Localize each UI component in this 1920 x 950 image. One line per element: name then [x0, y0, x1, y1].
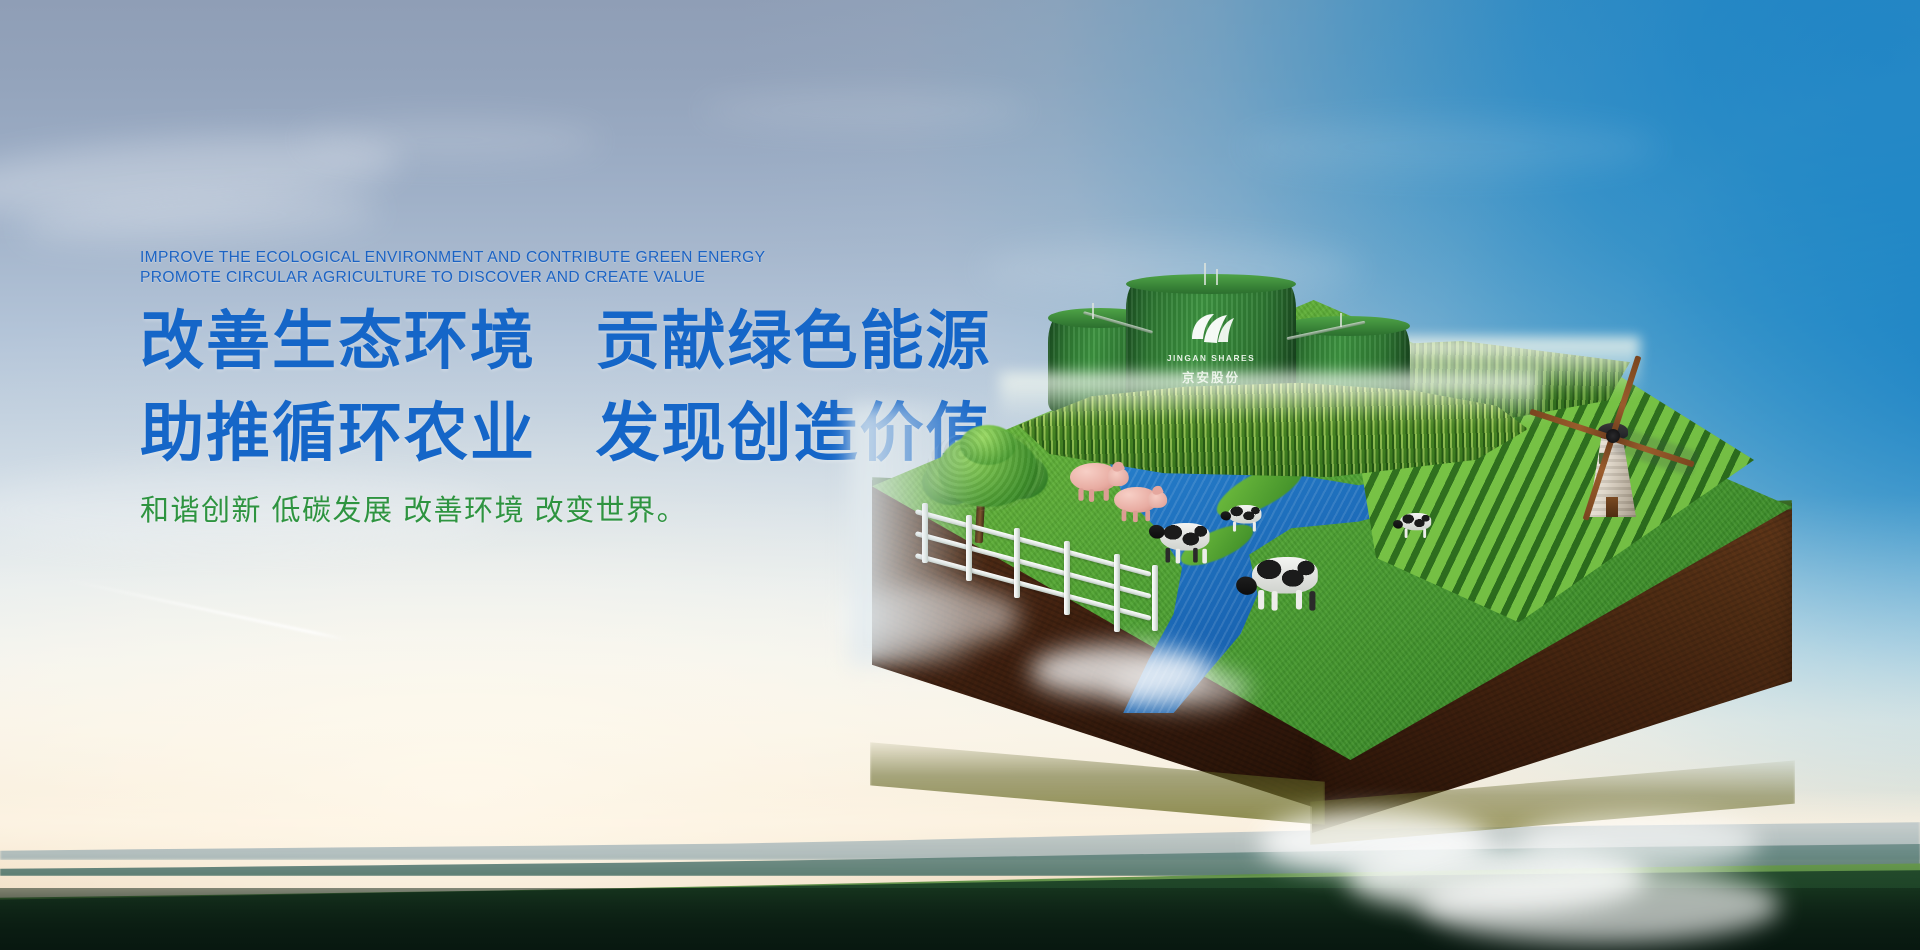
cow-leg — [1405, 529, 1408, 538]
cow-leg — [1193, 548, 1197, 563]
cow-head — [1221, 511, 1232, 520]
cow-head — [1393, 520, 1403, 529]
pig-leg — [1133, 511, 1138, 522]
headline-line-2: 助推循环农业 发现创造价值 — [140, 394, 960, 472]
reed-field-haze — [1000, 373, 1540, 421]
pig-leg — [1104, 488, 1109, 501]
tank-mast — [1092, 303, 1094, 319]
cow-leg — [1309, 591, 1314, 611]
fence-post — [1114, 554, 1120, 632]
cow-body — [1160, 523, 1210, 551]
fence-post — [922, 503, 928, 563]
pig-leg — [1122, 510, 1127, 521]
windmill-hub — [1606, 429, 1620, 443]
tank-mast — [1216, 269, 1218, 285]
white-paddock-fence — [916, 491, 1156, 623]
tank-brand-english: JINGAN SHARES — [1126, 353, 1296, 363]
cow-leg — [1258, 590, 1263, 610]
subtitle-slogan: 和谐创新 低碳发展 改善环境 改变世界。 — [140, 492, 960, 530]
floating-island-illustration: JINGAN SHARES 京安股份 — [860, 255, 1920, 895]
headline-line-1-part-a: 改善生态环境 — [140, 305, 536, 377]
tank-mast — [1204, 263, 1206, 285]
headline-line-1: 改善生态环境 贡献绿色能源 — [140, 302, 960, 380]
foreground-field — [0, 888, 1920, 950]
fence-post — [966, 515, 972, 581]
headline-copy-block: IMPROVE THE ECOLOGICAL ENVIRONMENT AND C… — [140, 248, 960, 530]
leaf-swirl-logo-icon — [1184, 309, 1238, 349]
headline-line-2-part-a: 助推循环农业 — [140, 397, 536, 469]
fence-post — [1014, 528, 1020, 598]
windmill — [1550, 373, 1676, 523]
cow-head — [1236, 577, 1257, 595]
cow-head — [1149, 525, 1165, 539]
english-tagline-line-2: PROMOTE CIRCULAR AGRICULTURE TO DISCOVER… — [140, 268, 960, 288]
cow-leg — [1233, 522, 1236, 532]
fence-post — [1064, 541, 1070, 615]
windmill-door — [1606, 497, 1618, 517]
pig-leg — [1145, 510, 1150, 521]
english-tagline-line-1: IMPROVE THE ECOLOGICAL ENVIRONMENT AND C… — [140, 248, 960, 268]
tank-mast — [1340, 313, 1342, 327]
cow-leg — [1202, 549, 1206, 564]
cow-leg — [1176, 549, 1180, 564]
cow-leg — [1166, 548, 1170, 563]
cow-leg — [1253, 522, 1256, 532]
pig-leg — [1089, 489, 1094, 502]
cow-leg — [1272, 591, 1277, 611]
banner-stage: IMPROVE THE ECOLOGICAL ENVIRONMENT AND C… — [0, 0, 1920, 950]
tank-roof — [1126, 274, 1296, 294]
cow-leg — [1296, 590, 1301, 610]
pig-leg — [1078, 488, 1083, 501]
cow-body — [1252, 557, 1318, 594]
cow-leg — [1423, 529, 1426, 538]
fence-post — [1152, 565, 1158, 631]
